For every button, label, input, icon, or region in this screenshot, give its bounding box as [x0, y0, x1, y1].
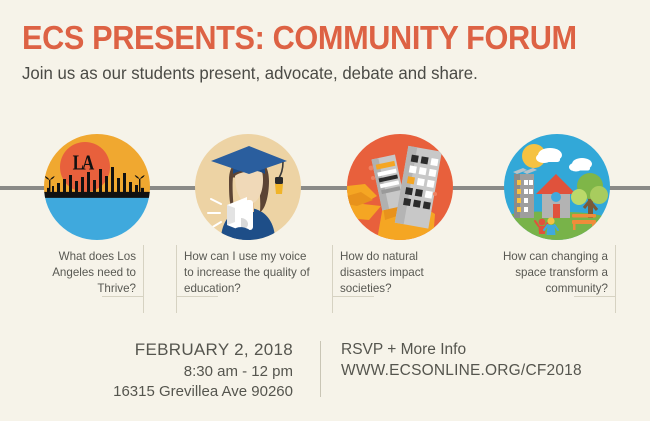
caption-divider-horizontal [176, 296, 218, 297]
caption-divider-vertical [143, 245, 144, 313]
page-title: ECS PRESENTS: COMMUNITY FORUM [22, 19, 577, 57]
event-date: FEBRUARY 2, 2018 [88, 340, 293, 360]
topic-icon-graduate [195, 134, 301, 240]
caption-divider-horizontal [574, 296, 616, 297]
topic-caption-3: How do natural disasters impact societie… [332, 243, 460, 297]
caption-divider-horizontal [332, 296, 374, 297]
earthquake-buildings-illustration [347, 134, 453, 240]
rsvp-label: RSVP + More Info [341, 341, 582, 359]
event-details: FEBRUARY 2, 2018 8:30 am - 12 pm 16315 G… [88, 340, 293, 400]
event-address: 16315 Grevillea Ave 90260 [88, 383, 293, 400]
topic-icon-natural-disaster [347, 134, 453, 240]
event-time: 8:30 am - 12 pm [88, 363, 293, 380]
caption-divider-horizontal [102, 296, 144, 297]
ocean-shape [44, 193, 150, 240]
topic-icon-los-angeles: LA [44, 134, 150, 240]
topic-caption-4: How can changing a space transform a com… [480, 243, 616, 297]
graduate-megaphone-illustration [195, 134, 301, 240]
caption-text: How do natural disasters impact societie… [340, 250, 424, 295]
caption-text: How can I use my voice to increase the q… [184, 250, 310, 295]
topic-caption-1: What does Los Angeles need to Thrive? [26, 243, 144, 297]
rsvp-url[interactable]: WWW.ECSONLINE.ORG/CF2018 [341, 362, 582, 380]
event-poster: ECS PRESENTS: COMMUNITY FORUM Join us as… [0, 0, 650, 421]
rsvp-block: RSVP + More Info WWW.ECSONLINE.ORG/CF201… [341, 341, 582, 380]
caption-text: How can changing a space transform a com… [503, 250, 608, 295]
caption-text: What does Los Angeles need to Thrive? [52, 250, 136, 295]
caption-divider-vertical [332, 245, 333, 313]
footer-divider [320, 341, 321, 397]
caption-divider-vertical [176, 245, 177, 313]
skyline-silhouette-icon [44, 164, 150, 198]
topic-caption-2: How can I use my voice to increase the q… [176, 243, 318, 297]
page-subtitle: Join us as our students present, advocat… [22, 63, 478, 84]
caption-divider-vertical [615, 245, 616, 313]
topic-icon-community [504, 134, 610, 240]
neighborhood-illustration [504, 134, 610, 240]
